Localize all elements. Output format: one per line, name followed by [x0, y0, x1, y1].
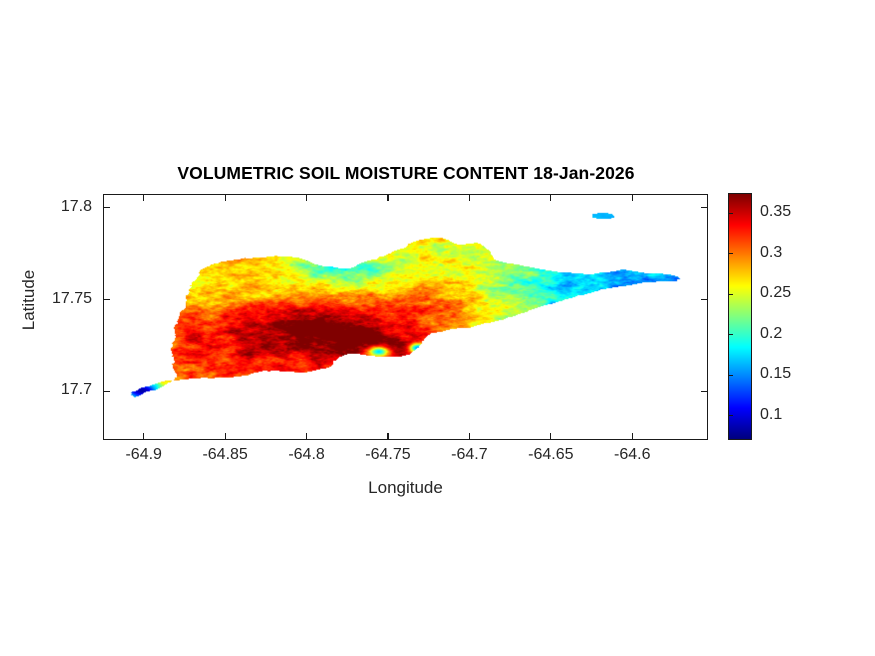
x-tick-mark [225, 433, 226, 440]
x-tick-label: -64.6 [597, 446, 667, 464]
colorbar[interactable] [728, 193, 752, 440]
colorbar-tick-label: 0.25 [760, 284, 791, 302]
y-tick-mark [701, 299, 708, 300]
x-tick-mark [469, 194, 470, 201]
x-tick-mark [306, 433, 307, 440]
x-tick-mark [550, 433, 551, 440]
colorbar-tick-mark [728, 294, 733, 295]
x-tick-mark [143, 433, 144, 440]
page-title: VOLUMETRIC SOIL MOISTURE CONTENT 18-Jan-… [103, 163, 709, 184]
colorbar-tick-mark [728, 213, 733, 214]
x-tick-mark [550, 194, 551, 201]
x-tick-label: -64.8 [272, 446, 342, 464]
y-tick-mark [701, 207, 708, 208]
map-axes[interactable] [103, 194, 708, 440]
colorbar-tick-mark [728, 415, 733, 416]
figure-canvas: VOLUMETRIC SOIL MOISTURE CONTENT 18-Jan-… [0, 0, 875, 656]
colorbar-gradient [729, 194, 751, 439]
y-tick-mark [701, 391, 708, 392]
y-axis-label: Latitude [19, 250, 39, 350]
colorbar-tick-label: 0.35 [760, 203, 791, 221]
colorbar-tick-label: 0.1 [760, 406, 782, 424]
x-tick-mark [143, 194, 144, 201]
x-tick-label: -64.9 [109, 446, 179, 464]
y-tick-label: 17.7 [61, 381, 92, 399]
x-tick-mark [632, 194, 633, 201]
x-tick-label: -64.75 [353, 446, 423, 464]
x-tick-mark [387, 433, 388, 440]
y-tick-mark [103, 207, 110, 208]
colorbar-tick-label: 0.15 [760, 365, 791, 383]
y-tick-label: 17.75 [52, 290, 92, 308]
x-axis-label: Longitude [103, 478, 708, 498]
colorbar-tick-label: 0.3 [760, 244, 782, 262]
x-tick-mark [387, 194, 388, 201]
colorbar-tick-mark [728, 375, 733, 376]
colorbar-tick-label: 0.2 [760, 325, 782, 343]
x-tick-label: -64.85 [190, 446, 260, 464]
soil-moisture-heatmap[interactable] [104, 195, 707, 439]
x-tick-label: -64.65 [516, 446, 586, 464]
x-tick-mark [225, 194, 226, 201]
y-tick-mark [103, 391, 110, 392]
x-tick-mark [469, 433, 470, 440]
y-tick-label: 17.8 [61, 198, 92, 216]
y-tick-mark [103, 299, 110, 300]
x-tick-mark [632, 433, 633, 440]
x-tick-label: -64.7 [434, 446, 504, 464]
x-tick-mark [306, 194, 307, 201]
colorbar-tick-mark [728, 253, 733, 254]
colorbar-tick-mark [728, 334, 733, 335]
